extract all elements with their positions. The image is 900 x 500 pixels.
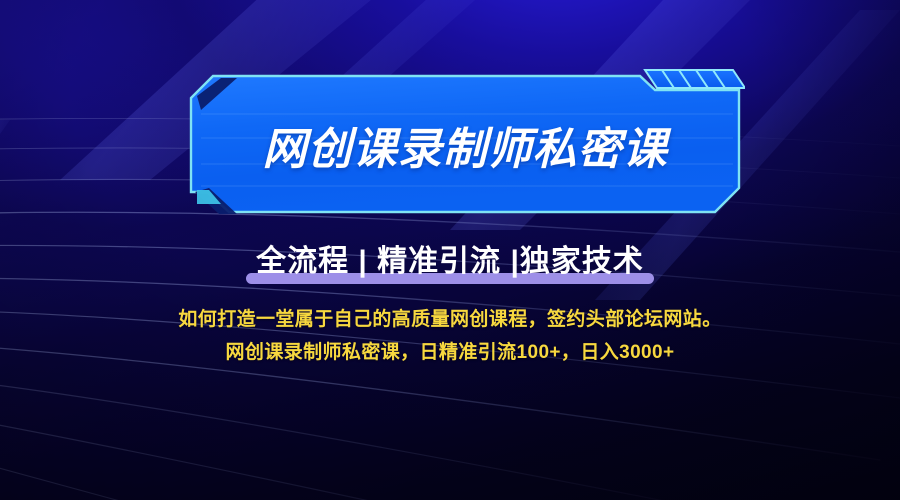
body-copy: 如何打造一堂属于自己的高质量网创课程，签约头部论坛网站。 网创课录制师私密课，日…	[0, 303, 900, 369]
body-line-2: 网创课录制师私密课，日精准引流100+，日入3000+	[0, 336, 900, 369]
promo-poster: 网创课录制师私密课 全流程 | 精准引流 |独家技术 如何打造一堂属于自己的高质…	[0, 0, 900, 500]
banner-title-text: 网创课录制师私密课	[185, 70, 745, 220]
title-banner: 网创课录制师私密课	[185, 68, 745, 218]
body-line-1: 如何打造一堂属于自己的高质量网创课程，签约头部论坛网站。	[0, 303, 900, 336]
subtitle-text: 全流程 | 精准引流 |独家技术	[250, 236, 650, 286]
subtitle-block: 全流程 | 精准引流 |独家技术	[0, 236, 900, 286]
